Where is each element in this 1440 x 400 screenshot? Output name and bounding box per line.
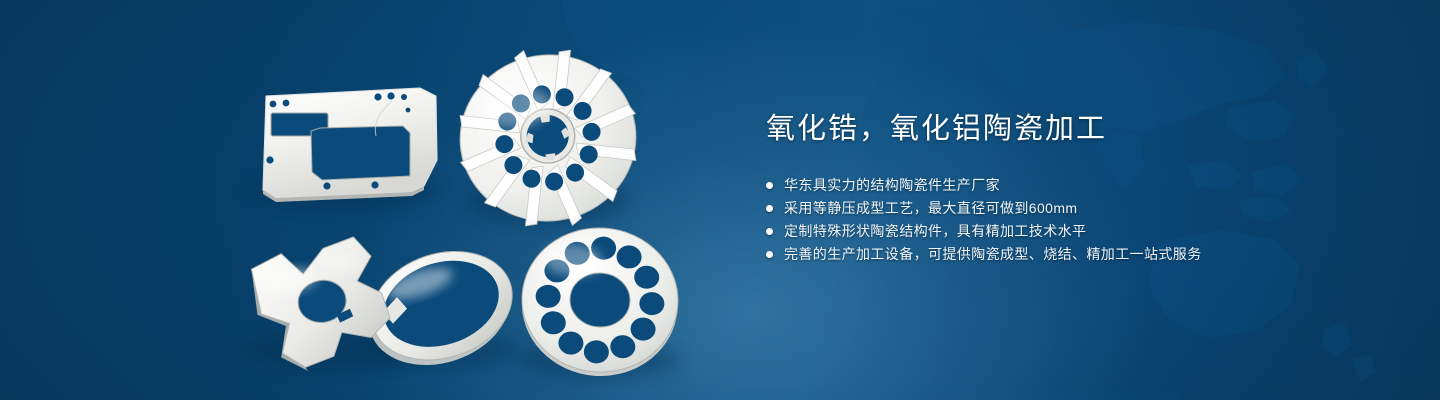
ceramic-products-hero-banner: 氧化锆，氧化铝陶瓷加工 华东具实力的结构陶瓷件生产厂家 采用等静压成型工艺，最大… (0, 0, 1440, 400)
list-item-label: 华东具实力的结构陶瓷件生产厂家 (784, 174, 1000, 197)
list-item: 采用等静压成型工艺，最大直径可做到600mm (766, 197, 1386, 220)
list-item-label: 采用等静压成型工艺，最大直径可做到600mm (784, 197, 1077, 220)
bullet-dot-icon (766, 182, 773, 189)
list-item-label: 完善的生产加工设备，可提供陶瓷成型、烧结、精加工一站式服务 (784, 243, 1202, 266)
bullet-dot-icon (766, 228, 773, 235)
banner-copy: 氧化锆，氧化铝陶瓷加工 华东具实力的结构陶瓷件生产厂家 采用等静压成型工艺，最大… (766, 110, 1386, 266)
bullet-dot-icon (766, 205, 773, 212)
list-item: 完善的生产加工设备，可提供陶瓷成型、烧结、精加工一站式服务 (766, 243, 1386, 266)
list-item: 定制特殊形状陶瓷结构件，具有精加工技术水平 (766, 220, 1386, 243)
bullet-dot-icon (766, 251, 773, 258)
ceramic-machined-plate (263, 88, 437, 202)
list-item-label: 定制特殊形状陶瓷结构件，具有精加工技术水平 (784, 220, 1086, 243)
feature-list: 华东具实力的结构陶瓷件生产厂家 采用等静压成型工艺，最大直径可做到600mm 定… (766, 174, 1386, 266)
page-title: 氧化锆，氧化铝陶瓷加工 (766, 110, 1386, 148)
ceramic-products-image (0, 0, 740, 400)
list-item: 华东具实力的结构陶瓷件生产厂家 (766, 174, 1386, 197)
